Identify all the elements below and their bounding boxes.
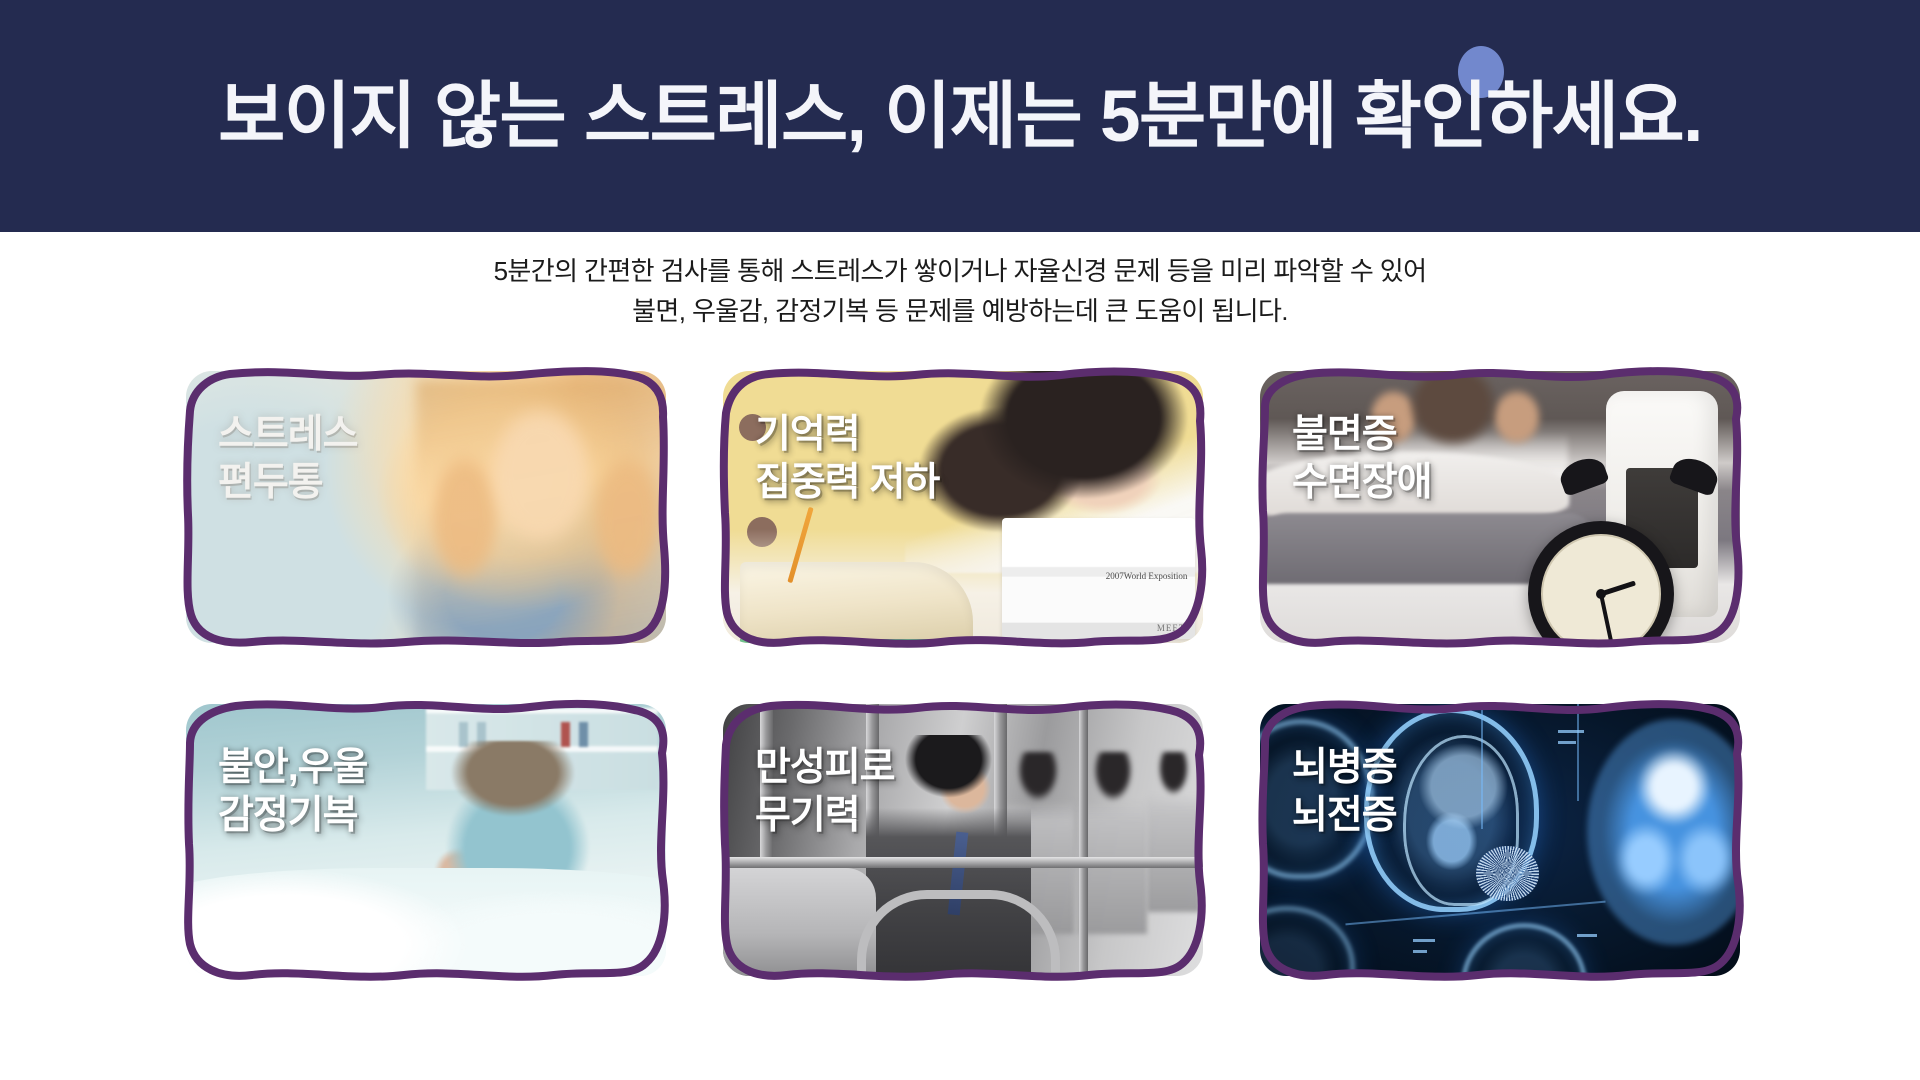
- promo-page: 보이지 않는 스트레스, 이제는 5분만에 확인하세요. 5분간의 간편한 검사…: [0, 0, 1920, 1080]
- symptom-card-encephalopathy-epilepsy[interactable]: 뇌병증 뇌전증: [1254, 698, 1746, 982]
- card-label-encephalopathy-epilepsy: 뇌병증 뇌전증: [1292, 744, 1397, 839]
- pet-scan-slice: [1587, 719, 1740, 945]
- card-label-insomnia: 불면증 수면장애: [1292, 411, 1432, 506]
- scan-guide-line: [1481, 704, 1483, 829]
- symptom-card-anxiety-depression[interactable]: 불안,우울 감정기복: [180, 698, 672, 982]
- clock-minute-hand: [1599, 594, 1613, 643]
- scan-annotation-tick: [1558, 730, 1584, 733]
- bed-bedding: [186, 868, 666, 976]
- card-label-memory-concentration: 기억력 집중력 저하: [755, 411, 939, 506]
- symptom-card-insomnia[interactable]: 불면증 수면장애: [1254, 365, 1746, 649]
- subway-handrail: [723, 857, 1203, 868]
- header-band: 보이지 않는 스트레스, 이제는 5분만에 확인하세요.: [0, 0, 1920, 232]
- book-stack: 2007World Exposition MEET: [1002, 518, 1196, 639]
- background-passenger: [1079, 752, 1147, 934]
- symptom-card-chronic-fatigue[interactable]: 만성피로 무기력: [717, 698, 1209, 982]
- symptom-card-stress-migraine[interactable]: 스트레스 편두통: [180, 365, 672, 649]
- scan-guide-line: [1577, 704, 1579, 801]
- scan-annotation-tick: [1413, 939, 1435, 942]
- mri-slice: [1260, 906, 1355, 976]
- card-label-anxiety-depression: 불안,우울 감정기복: [218, 744, 367, 839]
- subway-pole: [1079, 704, 1088, 976]
- subway-seat: [723, 868, 876, 976]
- book-spine-text-secondary: MEET: [1157, 623, 1186, 633]
- scan-annotation-tick: [1577, 934, 1597, 937]
- subtitle-line-1: 5분간의 간편한 검사를 통해 스트레스가 쌓이거나 자율신경 문제 등을 미리…: [0, 252, 1920, 292]
- symptom-card-grid: 스트레스 편두통 2007World Exposition MEET: [180, 365, 1746, 982]
- symptom-card-memory-concentration[interactable]: 2007World Exposition MEET 기억력 집중력 저하: [717, 365, 1209, 649]
- seat-handle: [857, 890, 1060, 973]
- subtitle-block: 5분간의 간편한 검사를 통해 스트레스가 쌓이거나 자율신경 문제 등을 미리…: [0, 252, 1920, 331]
- clock-center-pin: [1596, 589, 1606, 599]
- background-passenger: [1147, 752, 1200, 912]
- card-label-chronic-fatigue: 만성피로 무기력: [755, 744, 895, 839]
- open-book: [740, 562, 972, 643]
- page-title: 보이지 않는 스트레스, 이제는 5분만에 확인하세요.: [0, 0, 1920, 232]
- scan-annotation-tick: [1413, 950, 1427, 953]
- card-label-stress-migraine: 스트레스 편두통: [218, 411, 358, 506]
- cerebellum-detail: [1476, 846, 1539, 901]
- subtitle-line-2: 불면, 우울감, 감정기복 등 문제를 예방하는데 큰 도움이 됩니다.: [0, 292, 1920, 332]
- book-spine-text: 2007World Exposition: [1106, 571, 1188, 581]
- clock-face: [1541, 534, 1661, 643]
- scan-annotation-tick: [1558, 741, 1576, 744]
- mri-slice: [1461, 923, 1587, 976]
